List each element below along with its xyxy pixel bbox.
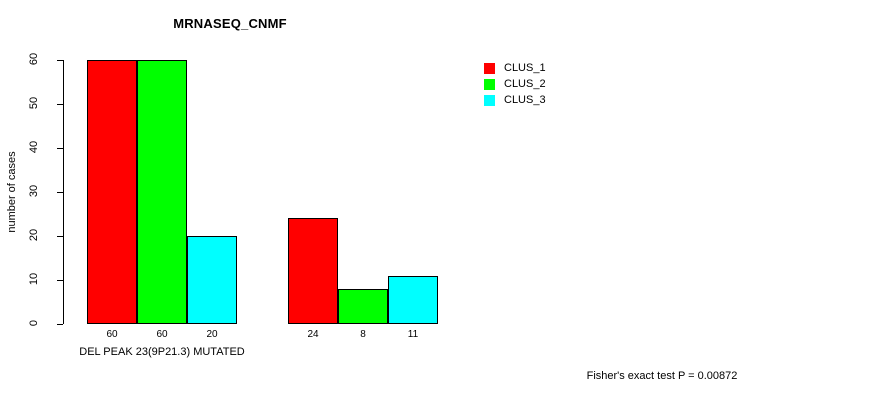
legend-item-clus_2: CLUS_2 [484,76,634,92]
y-axis-tick-label: 50 [28,83,40,123]
bar-value-label: 60 [137,329,187,340]
y-axis-title: number of cases [6,112,18,272]
footer-note: Fisher's exact test P = 0.00872 [0,370,890,382]
y-axis-tick [57,324,63,325]
legend-swatch-icon [484,63,495,74]
bar-value-label: 8 [338,329,388,340]
y-axis-line [63,60,64,324]
y-axis-tick [57,192,63,193]
y-axis-tick [57,148,63,149]
y-axis-tick [57,60,63,61]
chart-legend: CLUS_1CLUS_2CLUS_3 [484,60,634,108]
x-axis-group-label: DEL PEAK 23(9P21.3) MUTATED [47,346,277,358]
bar-clus_1-group1 [87,60,137,324]
y-axis-tick-label: 20 [28,215,40,255]
y-axis-tick-label: 0 [28,303,40,343]
legend-swatch-icon [484,95,495,106]
legend-label: CLUS_1 [504,62,546,74]
legend-item-clus_1: CLUS_1 [484,60,634,76]
bar-clus_2-group1 [137,60,187,324]
bar-clus_3-group1 [187,236,237,324]
y-axis-tick-label: 40 [28,127,40,167]
bar-value-label: 24 [288,329,338,340]
legend-label: CLUS_3 [504,94,546,106]
legend-swatch-icon [484,79,495,90]
y-axis-tick-label: 30 [28,171,40,211]
legend-item-clus_3: CLUS_3 [484,92,634,108]
bar-clus_3-group2 [388,276,438,324]
bar-value-label: 60 [87,329,137,340]
bar-clus_1-group2 [288,218,338,324]
y-axis-tick [57,280,63,281]
y-axis-tick-label: 10 [28,259,40,299]
chart-title: MRNASEQ_CNMF [0,16,890,31]
legend-label: CLUS_2 [504,78,546,90]
bar-clus_2-group2 [338,289,388,324]
chart-canvas: MRNASEQ_CNMF 0102030405060 number of cas… [0,0,890,400]
bar-value-label: 20 [187,329,237,340]
y-axis-tick [57,104,63,105]
y-axis-tick-label: 60 [28,39,40,79]
bar-value-label: 11 [388,329,438,340]
y-axis-tick [57,236,63,237]
